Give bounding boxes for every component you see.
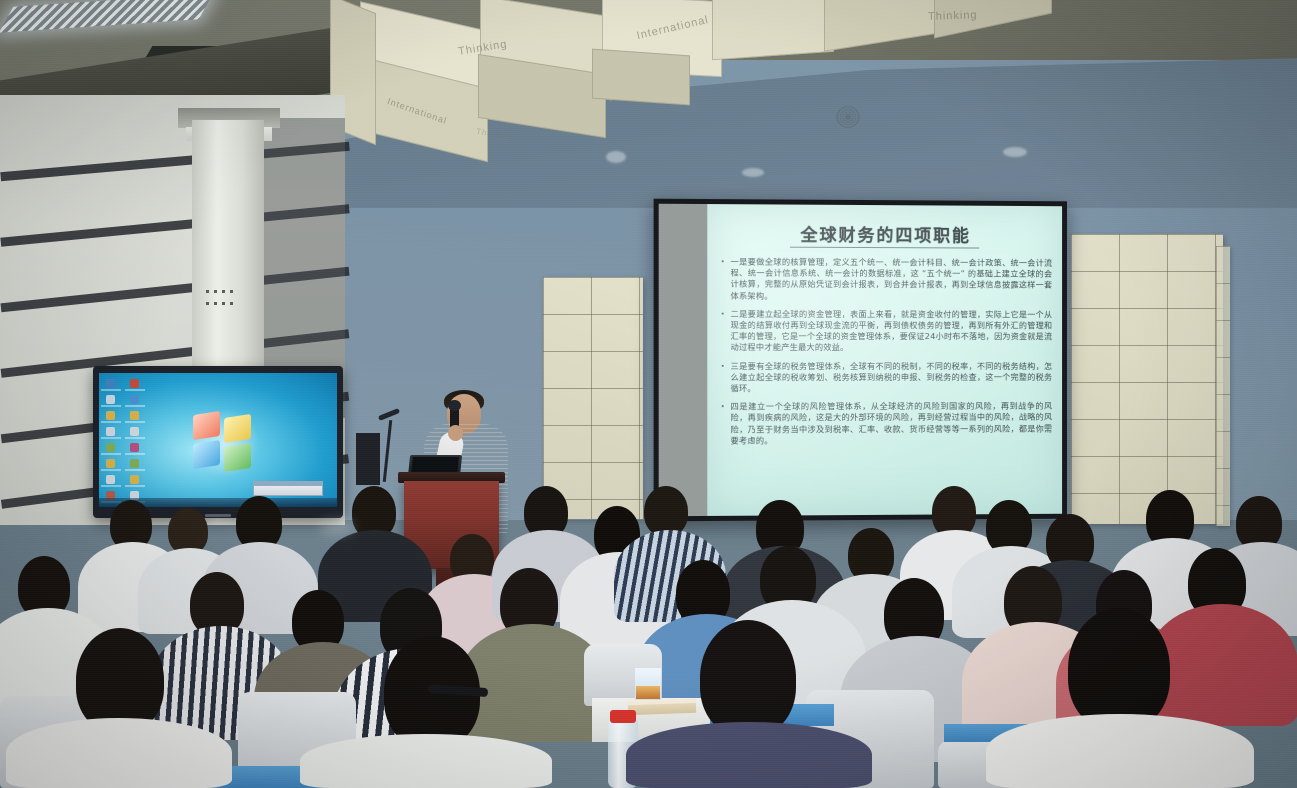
slide-bullet-text: 一是要做全球的核算管理，定义五个统一、统一会计科目、统一会计政策、统一会计流程、…	[731, 256, 1053, 302]
bullet-marker-icon: ▪	[721, 256, 730, 301]
juice-box	[635, 668, 661, 700]
lens-highlight	[320, 520, 354, 534]
bullet-marker-icon: ▪	[721, 401, 730, 446]
open-window[interactable]	[253, 481, 323, 496]
slide-title: 全球财务的四项职能	[707, 220, 1062, 247]
wall-grid-panel-left	[543, 277, 643, 519]
projection-screen-surface: 全球财务的四项职能 ▪ 一是要做全球的核算管理，定义五个统一、统一会计科目、统一…	[659, 204, 1062, 517]
wall-grid-panel-right	[1071, 234, 1223, 524]
screen-unlit-margin	[659, 204, 708, 517]
projection-screen: 全球财务的四项职能 ▪ 一是要做全球的核算管理，定义五个统一、统一会计科目、统一…	[654, 199, 1067, 522]
slide-bullet-text: 三是要有全球的税务管理体系，全球有不同的税制，不同的税率，不同的税务结构，怎么建…	[731, 361, 1053, 395]
lecture-hall-photo: Thinking International Doing Thinking In…	[0, 0, 1297, 788]
juice-box-artwork	[636, 686, 660, 699]
ceiling-light-troffer	[0, 0, 213, 33]
slide-bullet: ▪ 四是建立一个全球的风险管理体系，从全球经济的风险到国家的风险，再到战争的风险…	[721, 401, 1052, 447]
bottle-cap	[610, 710, 636, 723]
presentation-slide: 全球财务的四项职能 ▪ 一是要做全球的核算管理，定义五个统一、统一会计科目、统一…	[707, 204, 1062, 516]
bullet-marker-icon: ▪	[721, 361, 730, 395]
microphone-head-icon	[448, 400, 461, 411]
slide-bullet: ▪ 二是要建立起全球的资金管理，表面上来看，就是资金收付的管理，实际上它是一个从…	[721, 309, 1052, 354]
wall-grid-panel-edge	[1216, 246, 1230, 526]
monitor-screen[interactable]	[99, 373, 337, 507]
architectural-arch: Thinking International Doing Thinking In…	[330, 0, 1030, 200]
windows-flag-logo	[193, 413, 255, 471]
frieze-word: Thinking	[928, 9, 978, 23]
slide-bullet: ▪ 一是要做全球的核算管理，定义五个统一、统一会计科目、统一会计政策、统一会计流…	[721, 256, 1052, 302]
slide-bullet: ▪ 三是要有全球的税务管理体系，全球有不同的税制，不同的税率，不同的税务结构，怎…	[721, 361, 1052, 395]
slide-bullet-text: 四是建立一个全球的风险管理体系，从全球经济的风险到国家的风险，再到战争的风险，再…	[731, 401, 1053, 447]
bullet-marker-icon: ▪	[721, 309, 730, 354]
monitor-brand-logo	[205, 514, 231, 517]
av-equipment-box	[356, 433, 380, 485]
slide-bullet-text: 二是要建立起全球的资金管理，表面上来看，就是资金收付的管理，实际上它是一个从现金…	[731, 309, 1053, 354]
speaker-hand	[448, 425, 463, 441]
window-titlebar[interactable]	[254, 482, 322, 486]
slide-title-underline	[790, 247, 979, 249]
wall-monitor[interactable]	[93, 366, 343, 518]
open-book	[628, 699, 696, 715]
laptop-screen	[411, 457, 459, 472]
slide-bullet-list: ▪ 一是要做全球的核算管理，定义五个统一、统一会计科目、统一会计政策、统一会计流…	[721, 256, 1052, 453]
